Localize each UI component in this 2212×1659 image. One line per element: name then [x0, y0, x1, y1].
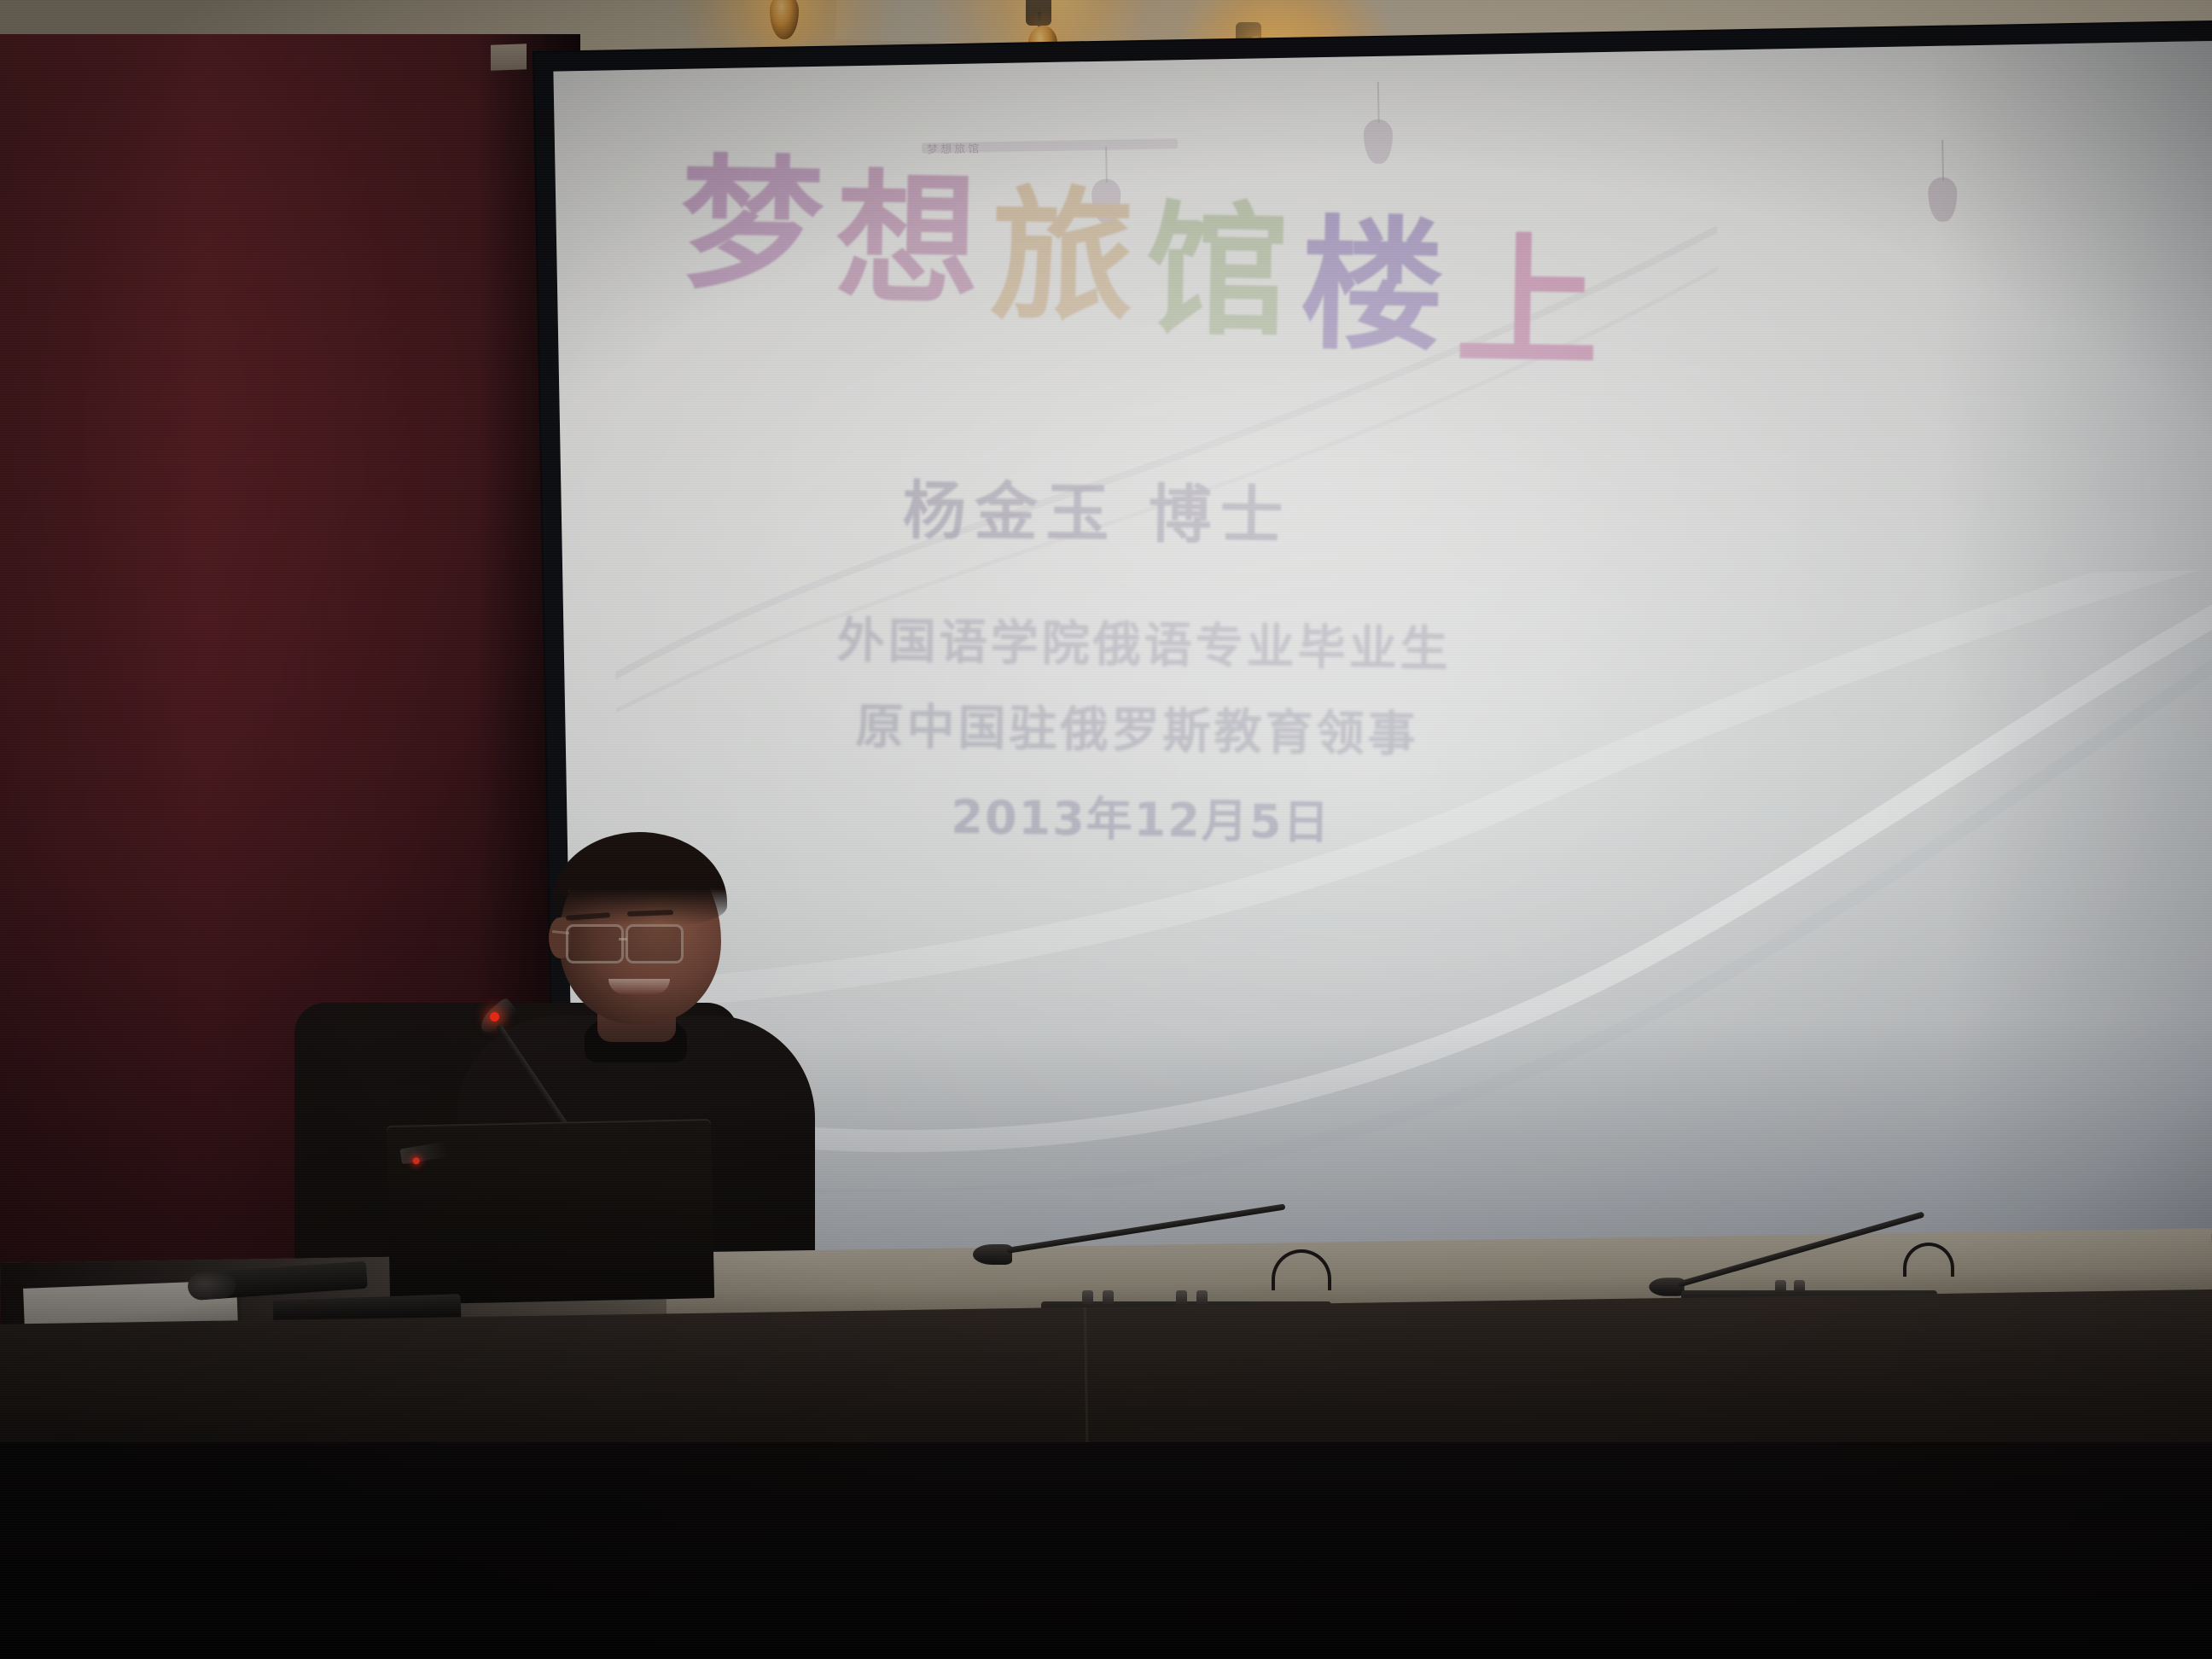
glasses-bridge [619, 938, 627, 940]
mic-knob-1[interactable] [1082, 1290, 1093, 1307]
wall-vent [491, 44, 527, 70]
mic-knob-5[interactable] [1775, 1280, 1786, 1294]
microphone-capsule [973, 1244, 1012, 1265]
projection-bottom-falloff [571, 1012, 2212, 1265]
microphone-led-indicator [490, 1012, 499, 1022]
lecture-hall-scene: 梦想旅馆 梦想旅馆楼上 杨金玉 博士 外国语学院 [0, 0, 2212, 1659]
laptop[interactable] [387, 1119, 714, 1305]
glasses-lens-right [626, 924, 684, 963]
mic-knob-2[interactable] [1103, 1290, 1114, 1307]
microphone-grille [187, 1270, 236, 1301]
speaker-mouth [608, 979, 670, 994]
laptop-power-led-icon [413, 1157, 420, 1164]
glasses-lens-left [566, 924, 624, 963]
laptop-badge [399, 1142, 447, 1164]
stage-front [0, 1442, 2212, 1659]
mic-knob-6[interactable] [1794, 1280, 1805, 1294]
